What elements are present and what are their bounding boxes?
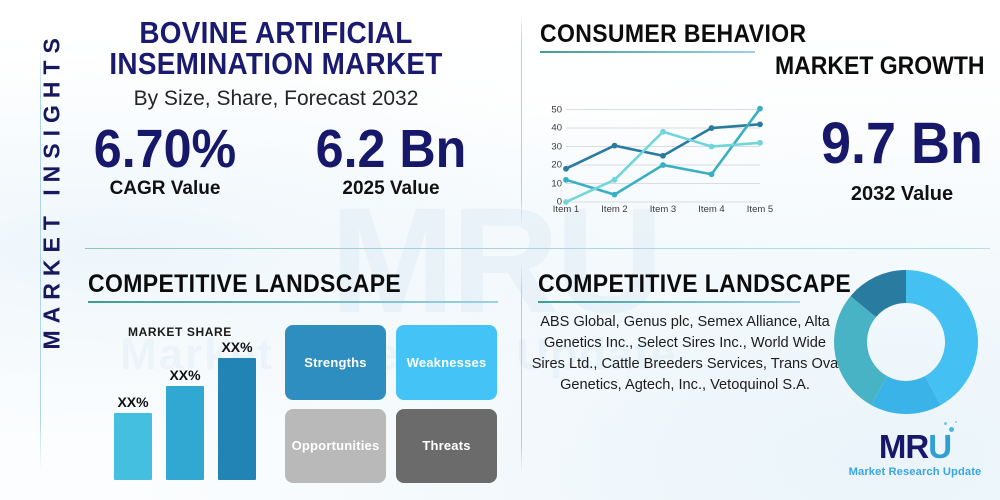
swot-cell-weaknesses[interactable]: Weaknesses	[396, 325, 497, 400]
logo-bubble-2	[944, 422, 947, 425]
market-share-bar-label: XX%	[117, 394, 148, 410]
chart-data-point	[660, 153, 666, 159]
chart-data-point	[709, 125, 715, 131]
consumer-behavior-section: CONSUMER BEHAVIOR	[540, 20, 830, 53]
market-share-donut-chart	[832, 268, 980, 421]
consumer-behavior-heading: CONSUMER BEHAVIOR	[540, 20, 807, 49]
swot-cell-opportunities[interactable]: Opportunities	[285, 409, 386, 484]
competitive-landscape-right-section: COMPETITIVE LANDSCAPE	[538, 270, 878, 303]
kpi-cagr-value: 6.70%	[60, 122, 270, 177]
competitive-landscape-right-rule	[538, 301, 800, 303]
kpi-cagr-label: CAGR Value	[52, 178, 278, 200]
chart-data-point	[709, 171, 715, 177]
chart-data-point	[563, 177, 569, 183]
competitive-landscape-right-heading: COMPETITIVE LANDSCAPE	[538, 270, 851, 299]
chart-x-tick: Item 5	[747, 204, 773, 215]
chart-data-point	[612, 143, 618, 149]
kpi-row: 6.70% CAGR Value 6.2 Bn 2025 Value	[52, 122, 504, 200]
chart-x-tick: Item 1	[553, 204, 579, 215]
kpi-2025: 6.2 Bn 2025 Value	[278, 122, 504, 200]
line-chart-svg	[536, 100, 766, 220]
market-share-bar	[166, 386, 204, 480]
chart-y-tick: 40	[551, 123, 562, 134]
divider-vertical-center-top	[521, 14, 522, 226]
chart-x-tick: Item 4	[698, 204, 724, 215]
swot-cell-threats[interactable]: Threats	[396, 409, 497, 484]
consumer-behavior-rule	[540, 51, 755, 53]
kpi-2025-value: 6.2 Bn	[286, 122, 496, 177]
mru-mark-dark: MR	[879, 428, 928, 465]
chart-data-point	[757, 140, 763, 146]
market-growth-value-label: 2032 Value	[812, 183, 992, 206]
donut-chart-svg	[832, 268, 980, 416]
chart-y-tick: 30	[551, 141, 562, 152]
chart-series-line-2	[566, 109, 760, 195]
chart-data-point	[660, 162, 666, 168]
chart-data-point	[757, 106, 763, 112]
mru-tagline: Market Research Update	[845, 466, 985, 478]
chart-y-tick: 50	[551, 104, 562, 115]
chart-data-point	[757, 121, 763, 127]
company-list: ABS Global, Genus plc, Semex Alliance, A…	[530, 312, 840, 396]
swot-cell-strengths[interactable]: Strengths	[285, 325, 386, 400]
swot-grid: StrengthsWeaknessesOpportunitiesThreats	[285, 325, 497, 483]
chart-y-tick: 20	[551, 160, 562, 171]
divider-vertical-center-bottom	[521, 262, 522, 474]
consumer-behavior-line-chart: 01020304050Item 1Item 2Item 3Item 4Item …	[536, 100, 766, 220]
market-share-bar	[114, 413, 152, 480]
chart-data-point	[660, 129, 666, 135]
competitive-landscape-left-section: COMPETITIVE LANDSCAPE	[88, 270, 498, 303]
market-share-label: MARKET SHARE	[128, 325, 232, 339]
divider-horizontal	[85, 248, 990, 249]
page-title: BOVINE ARTIFICIAL INSEMINATION MARKET	[74, 18, 477, 79]
chart-x-tick: Item 2	[601, 204, 627, 215]
kpi-cagr: 6.70% CAGR Value	[52, 122, 278, 200]
mru-mark-accent: U	[928, 428, 951, 465]
chart-data-point	[563, 166, 569, 172]
mru-wordmark: MRU	[879, 430, 951, 463]
competitive-landscape-left-rule	[88, 301, 498, 303]
market-share-bar-chart: XX%XX%XX%	[108, 340, 268, 480]
kpi-2025-label: 2025 Value	[278, 178, 504, 200]
chart-data-point	[612, 192, 618, 198]
market-growth-heading: MARKET GROWTH	[775, 52, 985, 81]
chart-x-tick: Item 3	[650, 204, 676, 215]
market-share-bar	[218, 358, 256, 480]
logo-bubble-3	[955, 421, 957, 423]
chart-data-point	[612, 177, 618, 183]
logo-bubble-1	[949, 427, 954, 432]
mru-logo: MRU Market Research Update	[845, 430, 985, 478]
page-subtitle: By Size, Share, Forecast 2032	[52, 87, 500, 111]
market-share-bar-label: XX%	[169, 367, 200, 383]
chart-data-point	[709, 144, 715, 150]
infographic-canvas: MRU Market Research Update MARKET INSIGH…	[0, 0, 1000, 500]
market-growth-value: 9.7 Bn	[818, 115, 985, 173]
market-share-bar-label: XX%	[221, 339, 252, 355]
chart-y-tick: 10	[551, 178, 562, 189]
competitive-landscape-left-heading: COMPETITIVE LANDSCAPE	[88, 270, 465, 299]
